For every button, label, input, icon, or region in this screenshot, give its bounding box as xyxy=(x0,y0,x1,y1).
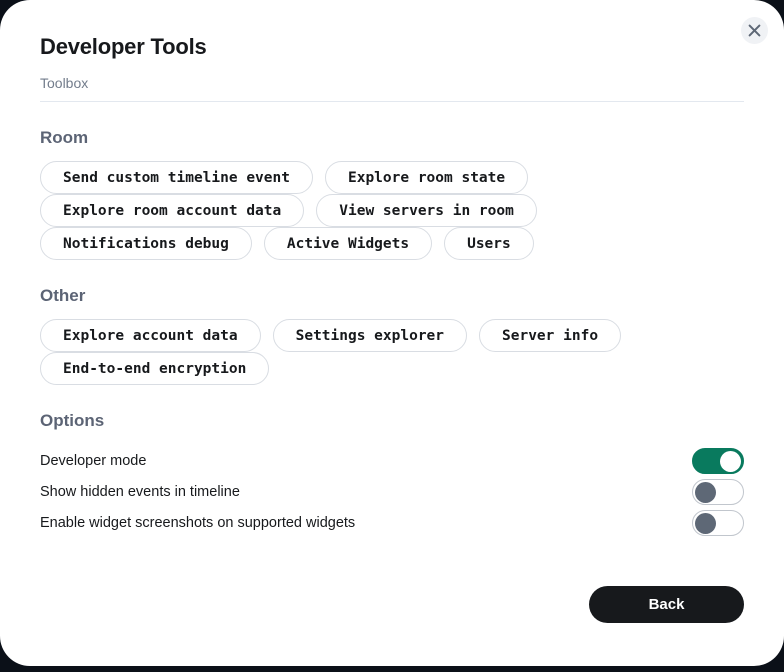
options-heading: Options xyxy=(40,411,744,431)
tool-button[interactable]: Explore room state xyxy=(325,161,528,194)
toggle-knob xyxy=(695,513,716,534)
back-button[interactable]: Back xyxy=(589,586,744,623)
tool-button[interactable]: Explore account data xyxy=(40,319,261,352)
tool-sections: RoomSend custom timeline eventExplore ro… xyxy=(40,128,744,385)
toggle-knob xyxy=(720,451,741,472)
dialog-subheader: Toolbox xyxy=(40,75,744,102)
page-title: Developer Tools xyxy=(40,30,744,61)
section-heading: Other xyxy=(40,286,744,306)
tool-button[interactable]: Settings explorer xyxy=(273,319,467,352)
tool-button-row: Notifications debugActive WidgetsUsers xyxy=(40,227,744,260)
developer-tools-dialog: Developer Tools Toolbox RoomSend custom … xyxy=(0,0,784,666)
section-heading: Room xyxy=(40,128,744,148)
tool-button[interactable]: View servers in room xyxy=(316,194,537,227)
option-label: Developer mode xyxy=(40,452,146,470)
tool-button-row: Explore account dataSettings explorerSer… xyxy=(40,319,744,352)
tool-button[interactable]: Server info xyxy=(479,319,621,352)
option-row: Show hidden events in timeline xyxy=(40,477,744,507)
option-toggle[interactable] xyxy=(692,479,744,505)
tool-button-row: End-to-end encryption xyxy=(40,352,744,385)
options-list: Developer modeShow hidden events in time… xyxy=(40,446,744,538)
option-row: Developer mode xyxy=(40,446,744,476)
option-row: Enable widget screenshots on supported w… xyxy=(40,508,744,538)
option-label: Enable widget screenshots on supported w… xyxy=(40,514,355,532)
tool-button[interactable]: Active Widgets xyxy=(264,227,432,260)
option-label: Show hidden events in timeline xyxy=(40,483,240,501)
toggle-knob xyxy=(695,482,716,503)
tool-button[interactable]: Notifications debug xyxy=(40,227,252,260)
tool-button[interactable]: Send custom timeline event xyxy=(40,161,313,194)
tool-button[interactable]: Explore room account data xyxy=(40,194,304,227)
option-toggle[interactable] xyxy=(692,448,744,474)
dialog-footer: Back xyxy=(40,586,744,623)
tool-button[interactable]: End-to-end encryption xyxy=(40,352,269,385)
dialog-body: Developer Tools Toolbox RoomSend custom … xyxy=(0,0,784,666)
option-toggle[interactable] xyxy=(692,510,744,536)
close-icon xyxy=(748,24,761,37)
tool-button-row: Send custom timeline eventExplore room s… xyxy=(40,161,744,194)
tool-button-row: Explore room account dataView servers in… xyxy=(40,194,744,227)
tool-button[interactable]: Users xyxy=(444,227,534,260)
close-button[interactable] xyxy=(741,17,768,44)
